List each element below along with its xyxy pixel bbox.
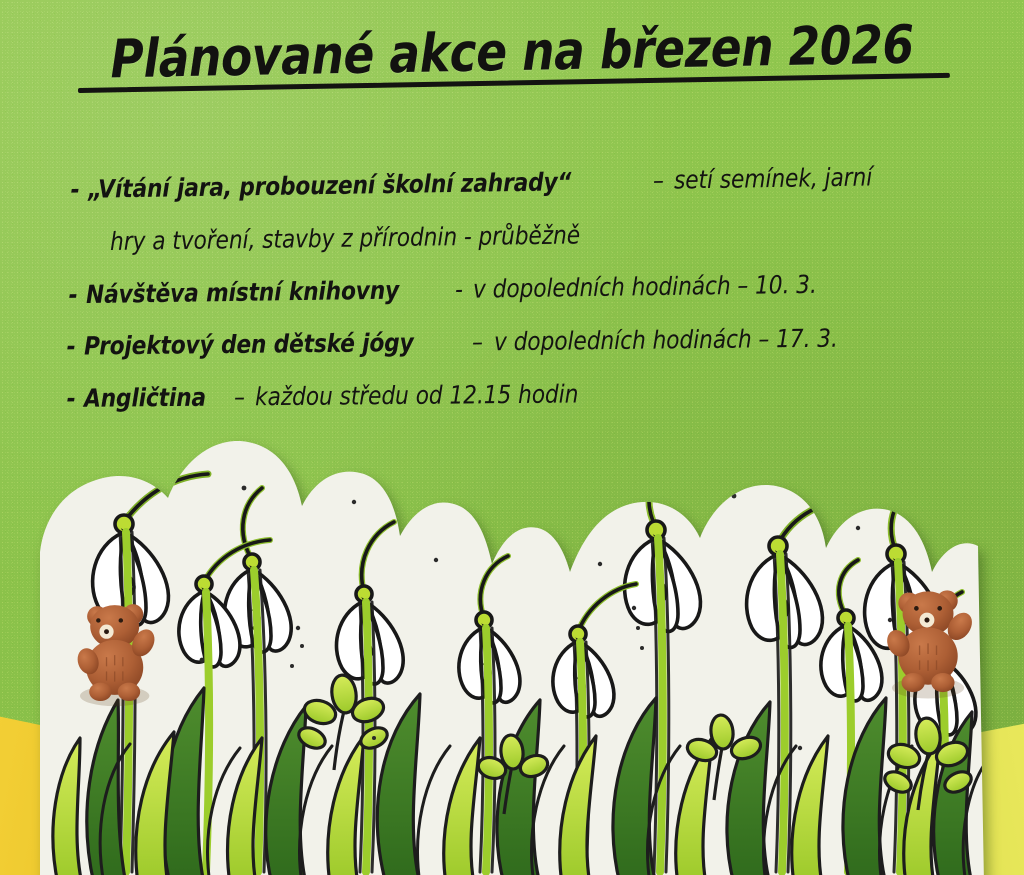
snowdrop-border-decoration xyxy=(34,432,990,875)
event-title: Projektový den dětské jógy xyxy=(84,328,414,360)
event-title: Návštěva místní knihovny xyxy=(86,276,399,309)
list-item: - Angličtina – každou středu od 12.15 ho… xyxy=(66,376,966,413)
event-dash: - xyxy=(455,275,463,304)
event-detail: každou středu od 12.15 hodin xyxy=(255,379,579,411)
event-title: „Vítání jara, probouzení školní zahrady“ xyxy=(88,167,572,204)
event-detail: v dopoledních hodinách – 10. 3. xyxy=(473,270,817,304)
list-marker: - xyxy=(66,332,75,361)
poster-photo: Plánované akce na březen 2026 - „Vítání … xyxy=(0,0,1024,875)
event-detail: v dopoledních hodinách – 17. 3. xyxy=(493,324,837,357)
events-list: - „Vítání jara, probouzení školní zahrad… xyxy=(66,168,966,409)
event-detail-continuation: hry a tvoření, stavby z přírodnin - průb… xyxy=(110,220,580,256)
event-dash: – xyxy=(233,382,244,411)
event-title: Angličtina xyxy=(84,383,206,413)
list-marker: - xyxy=(70,175,80,204)
list-item-continuation: hry a tvoření, stavby z přírodnin - průb… xyxy=(110,215,966,256)
list-marker: - xyxy=(67,384,76,413)
list-item: - Návštěva místní knihovny - v dopolední… xyxy=(68,268,966,310)
list-marker: - xyxy=(68,280,78,309)
list-item: - Projektový den dětské jógy – v dopoled… xyxy=(66,322,966,360)
list-item: - „Vítání jara, probouzení školní zahrad… xyxy=(70,161,966,204)
event-dash: – xyxy=(472,327,483,356)
event-detail: setí semínek, jarní xyxy=(674,162,873,194)
event-dash: – xyxy=(653,166,664,195)
